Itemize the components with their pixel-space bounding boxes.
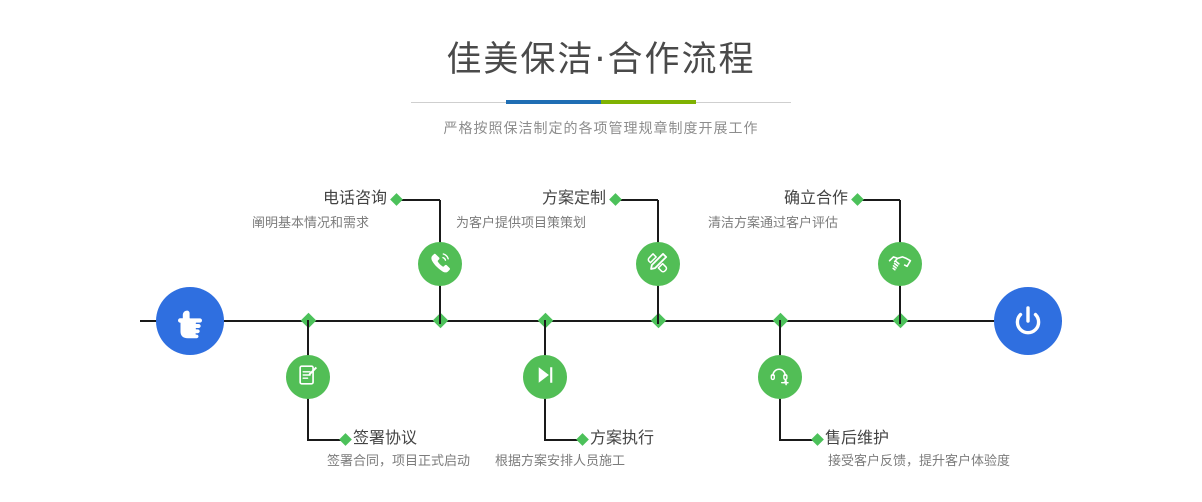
step-4-desc: 根据方案安排人员施工 (495, 453, 625, 471)
step-5-tip-diamond (851, 193, 864, 206)
step-1-title: 电话咨询 (257, 188, 387, 208)
step-2-tip-diamond (339, 433, 352, 446)
header: 佳美保洁·合作流程 严格按照保洁制定的各项管理规章制度开展工作 (0, 0, 1202, 138)
power-icon (1008, 301, 1048, 341)
step-6-desc: 接受客户反馈，提升客户体验度 (828, 453, 1010, 471)
title-divider (411, 98, 791, 108)
step-2-icon-badge[interactable] (286, 355, 330, 399)
step-3-icon-badge[interactable] (636, 242, 680, 286)
support-agent-icon (768, 363, 792, 391)
pencil-design-icon (645, 249, 671, 279)
step-4-title: 方案执行 (590, 428, 654, 448)
step-4-tip-diamond (576, 433, 589, 446)
step-6-title: 售后维护 (825, 428, 889, 448)
step-1-tip-diamond (390, 193, 403, 206)
divider-segment-green (601, 100, 696, 104)
step-3-desc: 为客户提供项目策策划 (456, 215, 586, 233)
step-6-tip-diamond (811, 433, 824, 446)
timeline-axis (140, 320, 1062, 322)
step-1-icon-badge[interactable] (418, 242, 462, 286)
step-3-leader (616, 199, 658, 201)
step-2-desc: 签署合同，项目正式启动 (327, 453, 470, 471)
step-1-leader (397, 199, 440, 201)
page-title: 佳美保洁·合作流程 (0, 38, 1202, 82)
handshake-icon (887, 249, 913, 279)
step-5-desc: 清洁方案通过客户评估 (708, 215, 838, 233)
step-4-icon-badge[interactable] (523, 355, 567, 399)
step-3-tip-diamond (609, 193, 622, 206)
page-subtitle: 严格按照保洁制定的各项管理规章制度开展工作 (0, 118, 1202, 138)
step-1-desc: 阐明基本情况和需求 (252, 215, 369, 233)
step-2-title: 签署协议 (353, 428, 417, 448)
step-5-leader (858, 199, 900, 201)
pointing-hand-icon (170, 301, 210, 341)
document-edit-icon (296, 363, 320, 391)
phone-call-icon (427, 249, 453, 279)
divider-segment-blue (506, 100, 601, 104)
play-execute-icon (533, 363, 557, 391)
cooperation-flow-infographic: 佳美保洁·合作流程 严格按照保洁制定的各项管理规章制度开展工作 (0, 0, 1202, 502)
step-5-title: 确立合作 (718, 188, 848, 208)
step-3-title: 方案定制 (476, 188, 606, 208)
step-6-icon-badge[interactable] (758, 355, 802, 399)
step-5-icon-badge[interactable] (878, 242, 922, 286)
flow-end-endpoint[interactable] (994, 287, 1062, 355)
flow-start-endpoint[interactable] (156, 287, 224, 355)
